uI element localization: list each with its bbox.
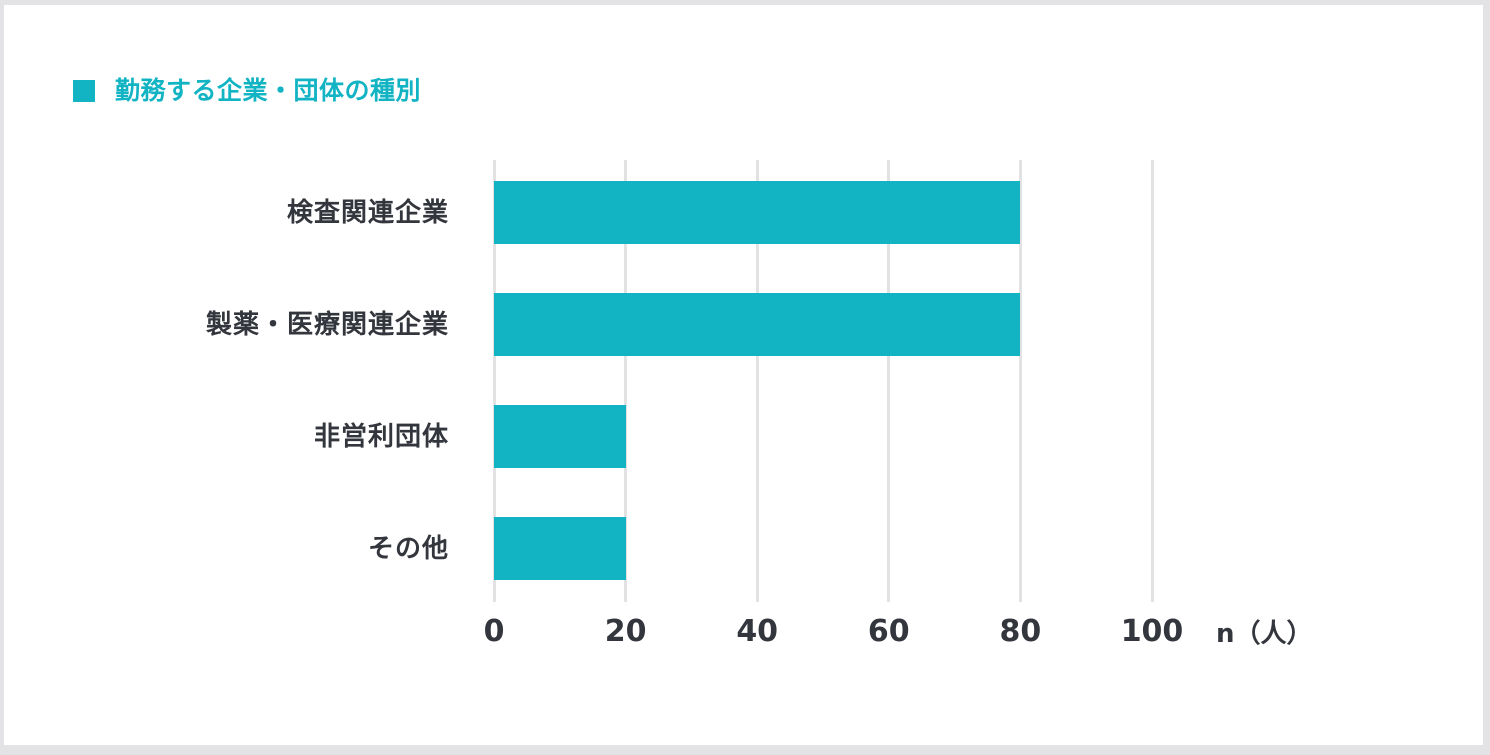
bar-fill: [494, 181, 1020, 244]
bar-fill: [494, 293, 1020, 356]
category-label: 非営利団体: [29, 424, 449, 450]
x-tick-label: 40: [697, 617, 817, 647]
x-tick-label: 0: [434, 617, 554, 647]
x-tick-label: 60: [829, 617, 949, 647]
bar-fill: [494, 405, 626, 468]
legend-label: 勤務する企業・団体の種別: [115, 78, 421, 103]
category-label: 検査関連企業: [29, 200, 449, 226]
category-label: その他: [29, 536, 449, 562]
chart-card: 勤務する企業・団体の種別 検査関連企業製薬・医療関連企業非営利団体その他 020…: [4, 5, 1483, 745]
bar: [494, 405, 626, 468]
chart-legend: 勤務する企業・団体の種別: [73, 78, 421, 103]
x-tick-label: 80: [960, 617, 1080, 647]
x-axis-unit-label: n（人）: [1216, 621, 1313, 647]
bar: [494, 293, 1020, 356]
bar-series: [490, 160, 1152, 602]
x-tick-label: 100: [1092, 617, 1212, 647]
bar-fill: [494, 517, 626, 580]
category-label: 製薬・医療関連企業: [29, 312, 449, 338]
bar: [494, 181, 1020, 244]
legend-swatch-icon: [73, 80, 95, 102]
x-tick-label: 20: [566, 617, 686, 647]
plot-area: [490, 160, 1152, 602]
bar: [494, 517, 626, 580]
